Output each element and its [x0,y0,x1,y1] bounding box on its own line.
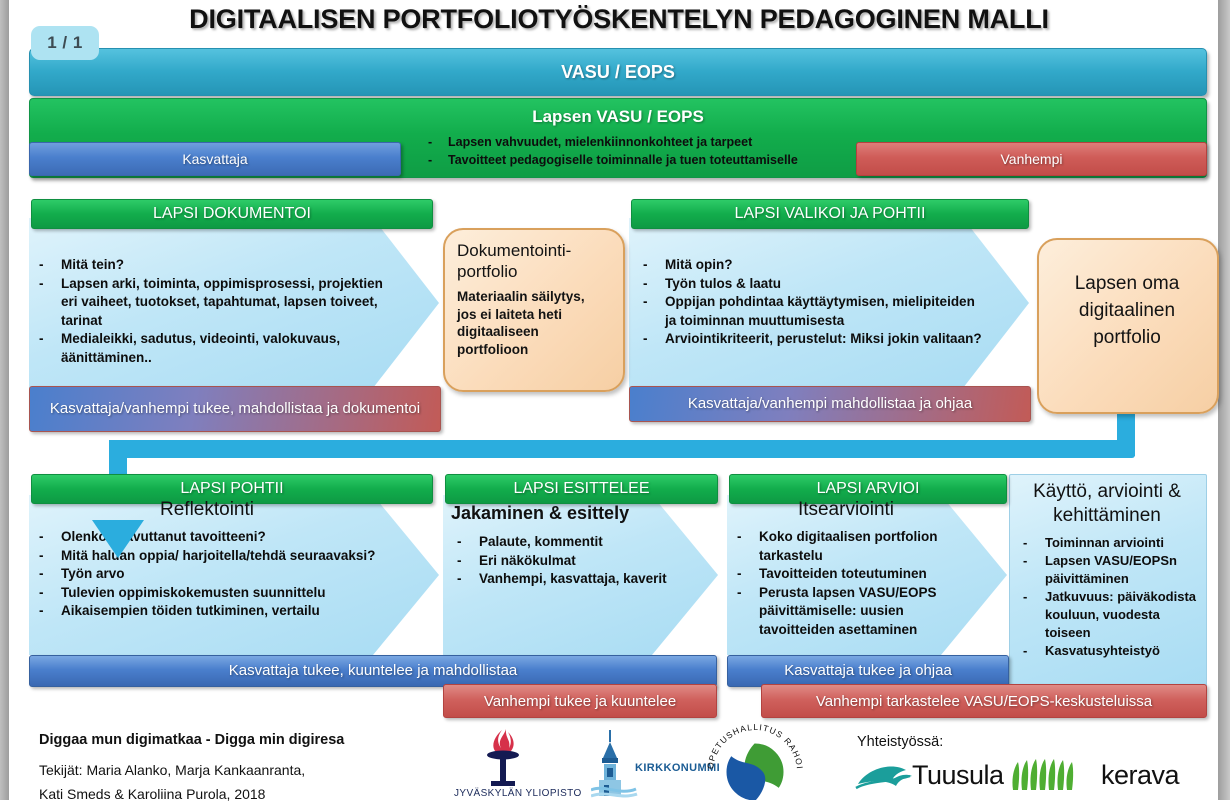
authors-line-1: Tekijät: Maria Alanko, Marja Kankaanrant… [39,762,305,778]
connector-segment-horizontal [109,440,1135,458]
kerava-grass-icon [1009,758,1099,796]
opetushallitus-circle-icon: OPETUSHALLITUS RAHOITTAA HANKETTA [699,722,827,800]
list-item: -Mitä tein? [39,256,389,275]
list-item: -Oppijan pohdintaa käyttäytymisen, mieli… [643,293,983,330]
bullet-text: Vanhempi, kasvattaja, kaverit [479,570,677,589]
lapsen-vasu-eops-title: Lapsen VASU / EOPS [30,107,1206,127]
stage-jakaminen-header: LAPSI ESITTELEE [445,474,718,504]
bullet-dash: - [39,256,61,275]
bullet-dash: - [737,528,759,565]
jyvaskylan-yliopisto-logo-caption: JYVÄSKYLÄN YLIOPISTO [454,788,564,799]
bullet-dash: - [1023,588,1045,642]
list-item: -Lapsen vahvuudet, mielenkiinnonkohteet … [428,133,898,151]
bullet-text: Koko digitaalisen portfolion tarkastelu [759,528,972,565]
bullet-text: Tavoitteet pedagogiselle toiminnalle ja … [448,151,798,169]
stage-itsearviointi-bullets: -Koko digitaalisen portfolion tarkastelu… [737,528,972,639]
bullet-dash: - [1023,552,1045,588]
stage-kaytto-arviointi-title: Käyttö, arviointi & kehittäminen [1015,480,1199,528]
dokumentointiportfolio-body: Materiaalin säilytys, jos ei laiteta het… [457,288,607,358]
bullet-dash: - [737,565,759,584]
bullet-dash: - [39,584,61,603]
stage-reflektointi-footer-blue: Kasvattaja tukee, kuuntelee ja mahdollis… [29,655,717,687]
page-title: DIGITAALISEN PORTFOLIOTYÖSKENTELYN PEDAG… [129,4,1109,40]
bullet-dash: - [643,293,665,330]
bullet-text: Mitä opin? [665,256,983,275]
bullet-text: Työn arvo [61,565,394,584]
stage-itsearviointi-title: Itsearviointi [731,499,961,521]
bullet-text: Perusta lapsen VASU/EOPS päivittämiselle… [759,584,972,640]
bullet-text: Lapsen VASU/EOPSn päivittäminen [1045,552,1201,588]
list-item: -Kasvatusyhteistyö [1023,642,1201,660]
tuusula-logo: Tuusula [854,758,1004,798]
kerava-logo: kerava [1009,758,1209,798]
bullet-text: Lapsen vahvuudet, mielenkiinnonkohteet j… [448,133,752,151]
jyvaskylan-yliopisto-logo: JYVÄSKYLÄN YLIOPISTO [454,726,564,798]
stage-toiden-arviointi-bullets: -Mitä opin? -Työn tulos & laatu -Oppijan… [643,256,983,349]
bullet-text: Arviointikriteerit, perustelut: Miksi jo… [665,330,983,349]
bullet-dash: - [737,584,759,640]
bullet-text: Eri näkökulmat [479,552,677,571]
bullet-dash: - [39,330,61,367]
bullet-dash: - [39,528,61,547]
vanhempi-label: Vanhempi [857,143,1206,175]
list-item: -Jatkuvuus: päiväkodista kouluun, vuodes… [1023,588,1201,642]
list-item: -Tavoitteet pedagogiselle toiminnalle ja… [428,151,898,169]
vasu-eops-banner: VASU / EOPS [29,48,1207,96]
stage-toiden-arviointi-header: LAPSI VALIKOI JA POHTII [631,199,1029,229]
collaboration-label: Yhteistyössä: [857,734,943,750]
list-item: -Vanhempi, kasvattaja, kaverit [457,570,677,589]
kasvattaja-bar: Kasvattaja [29,142,401,176]
list-item: -Työn tulos & laatu [643,275,983,294]
list-item: -Tavoitteiden toteutuminen [737,565,972,584]
bullet-text: Tavoitteiden toteutuminen [759,565,972,584]
dokumentointiportfolio-title: Dokumentointi-portfolio [457,240,617,282]
list-item: -Työn arvo [39,565,394,584]
bullet-dash: - [39,547,61,566]
stage-dokumentointi-bullets: -Mitä tein? -Lapsen arki, toiminta, oppi… [39,256,389,367]
vanhempi-bar: Vanhempi [856,142,1207,176]
viewer-left-rail [0,0,9,800]
lapsen-oma-digitaalinen-portfolio-title: Lapsen oma digitaalinen portfolio [1049,270,1205,351]
bullet-text: Toiminnan arviointi [1045,534,1201,552]
stage-itsearviointi-footer-blue: Kasvattaja tukee ja ohjaa [727,655,1009,687]
bullet-dash: - [457,533,479,552]
stage-reflektointi-title: Reflektointi [37,499,377,521]
lapsen-vasu-eops-bullets: -Lapsen vahvuudet, mielenkiinnonkohteet … [428,133,898,169]
stage-itsearviointi-footer-red: Vanhempi tarkastelee VASU/EOPS-keskustel… [761,684,1207,718]
list-item: -Palaute, kommentit [457,533,677,552]
bullet-dash: - [457,552,479,571]
bullet-text: Tulevien oppimiskokemusten suunnittelu [61,584,394,603]
list-item: -Aikaisempien töiden tutkiminen, vertail… [39,602,394,621]
stage-dokumentointi-header: LAPSI DOKUMENTOI [31,199,433,229]
stage-toiden-arviointi-footer: Kasvattaja/vanhempi mahdollistaa ja ohja… [629,386,1031,422]
bullet-text: Palaute, kommentit [479,533,677,552]
bullet-dash: - [1023,534,1045,552]
list-item: -Lapsen VASU/EOPSn päivittäminen [1023,552,1201,588]
bullet-text: Kasvatusyhteistyö [1045,642,1201,660]
stage-jakaminen-footer-red: Vanhempi tukee ja kuuntelee [443,684,717,718]
kerava-logo-caption: kerava [1101,760,1179,791]
slide-canvas: 1 / 1 DIGITAALISEN PORTFOLIOTYÖSKENTELYN… [9,0,1218,800]
stage-jakaminen-title: Jakaminen & esittely [451,503,681,524]
bullet-dash: - [643,330,665,349]
project-title: Diggaa mun digimatkaa - Digga min digire… [39,732,344,748]
bullet-dash: - [39,602,61,621]
list-item: -Mitä opin? [643,256,983,275]
bullet-dash: - [1023,642,1045,660]
tuusula-logo-caption: Tuusula [912,760,1004,791]
bullet-text: Mitä tein? [61,256,389,275]
list-item: -Koko digitaalisen portfolion tarkastelu [737,528,972,565]
connector-arrowhead-icon [92,520,144,558]
bullet-dash: - [457,570,479,589]
vasu-eops-banner-label: VASU / EOPS [30,49,1206,95]
list-item: -Tulevien oppimiskokemusten suunnittelu [39,584,394,603]
bullet-text: Jatkuvuus: päiväkodista kouluun, vuodest… [1045,588,1201,642]
bullet-dash: - [39,275,61,331]
stage-kaytto-arviointi-bullets: -Toiminnan arviointi -Lapsen VASU/EOPSn … [1023,534,1201,660]
list-item: -Lapsen arki, toiminta, oppimisprosessi,… [39,275,389,331]
list-item: -Eri näkökulmat [457,552,677,571]
list-item: -Medialeikki, sadutus, videointi, valoku… [39,330,389,367]
bullet-dash: - [643,256,665,275]
bullet-text: Aikaisempien töiden tutkiminen, vertailu [61,602,394,621]
bullet-dash: - [428,133,434,151]
viewer-right-rail [1218,0,1230,800]
bullet-text: Lapsen arki, toiminta, oppimisprosessi, … [61,275,389,331]
list-item: -Toiminnan arviointi [1023,534,1201,552]
bullet-text: Medialeikki, sadutus, videointi, valokuv… [61,330,389,367]
bullet-text: Työn tulos & laatu [665,275,983,294]
bullet-dash: - [428,151,434,169]
stage-jakaminen-bullets: -Palaute, kommentit -Eri näkökulmat -Van… [457,533,677,589]
page-indicator-badge: 1 / 1 [31,26,99,60]
stage-dokumentointi-footer: Kasvattaja/vanhempi tukee, mahdollistaa … [29,386,441,432]
bullet-text: Oppijan pohdintaa käyttäytymisen, mielip… [665,293,983,330]
opetushallitus-logo: OPETUSHALLITUS RAHOITTAA HANKETTA [699,722,827,800]
bullet-dash: - [39,565,61,584]
bullet-dash: - [643,275,665,294]
list-item: -Arviointikriteerit, perustelut: Miksi j… [643,330,983,349]
kasvattaja-label: Kasvattaja [30,143,400,175]
list-item: -Perusta lapsen VASU/EOPS päivittämisell… [737,584,972,640]
